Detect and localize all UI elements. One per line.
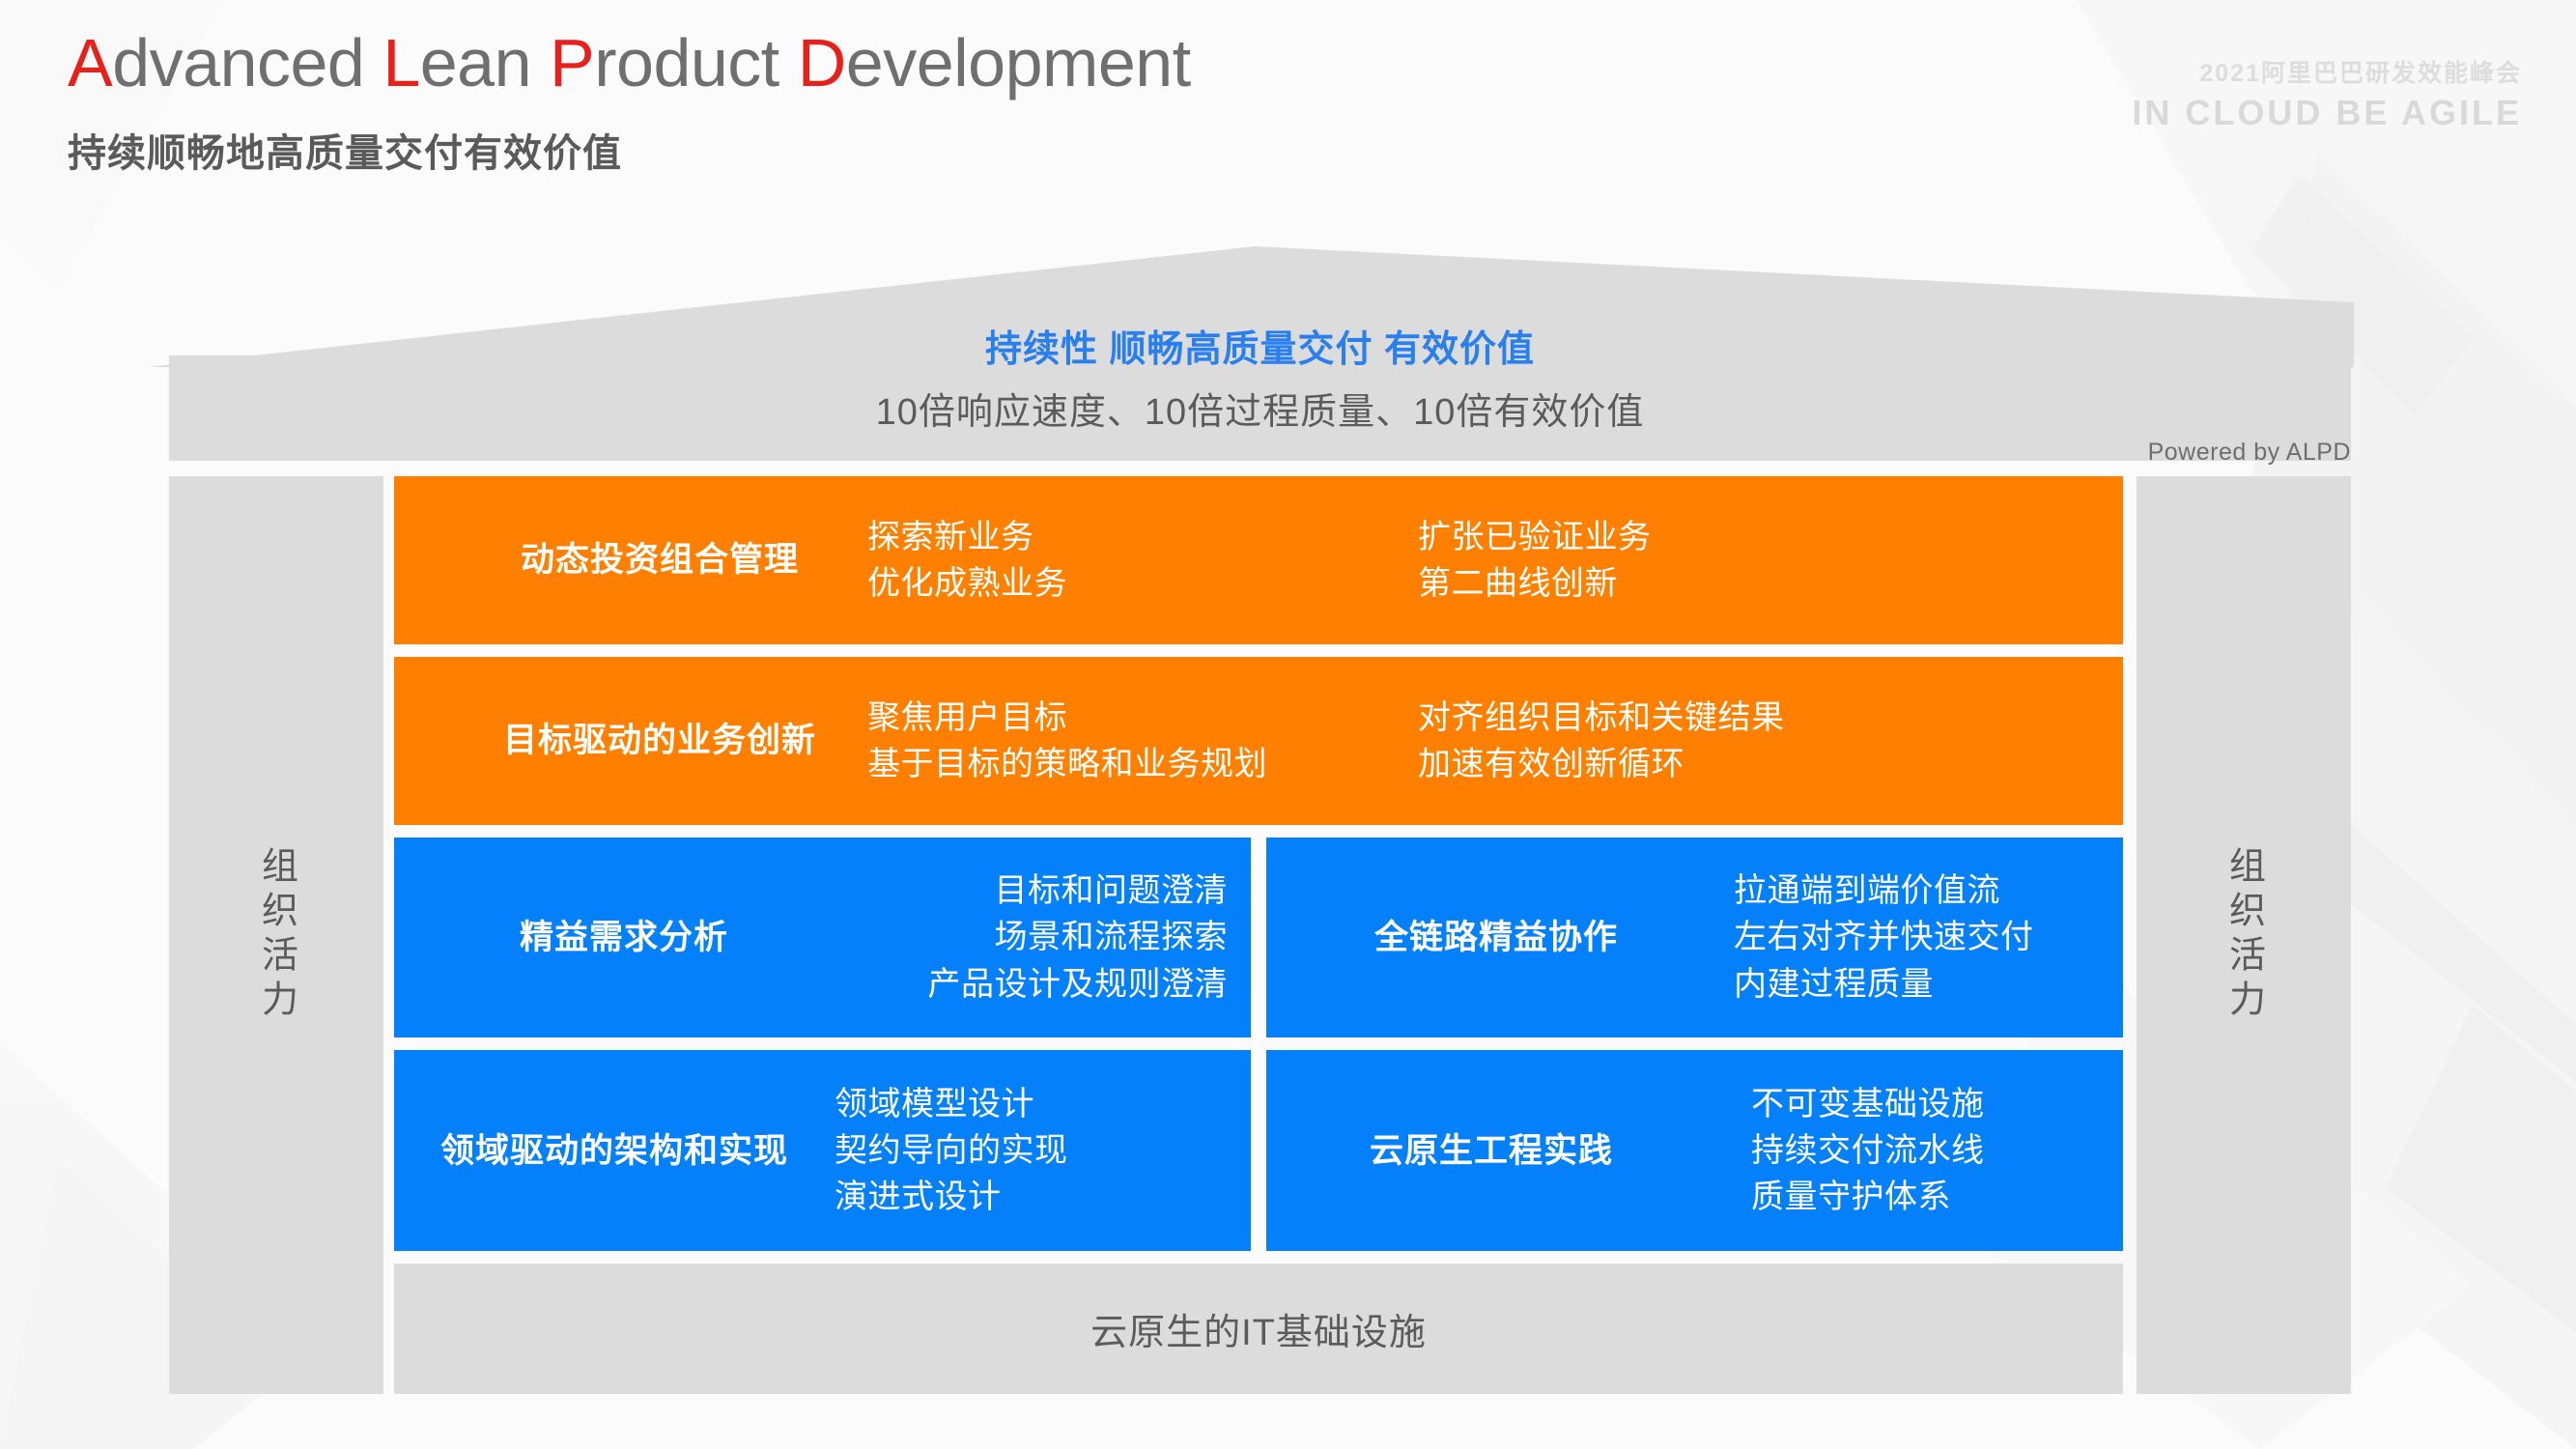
card-title: 精益需求分析: [421, 914, 827, 961]
roof-text-block: 持续性 顺畅高质量交付 有效价值 10倍响应速度、10倍过程质量、10倍有效价值…: [169, 319, 2351, 435]
card-lean-requirements-analysis: 精益需求分析 目标和问题澄清 场景和流程探索 产品设计及规则澄清: [394, 838, 1251, 1038]
card-title: 动态投资组合管理: [452, 536, 867, 583]
page-title: Advanced Lean Product Development: [68, 29, 1191, 97]
title-accent-letter: D: [798, 25, 846, 100]
list-item: 聚焦用户目标: [867, 695, 1418, 741]
list-item: 对齐组织目标和关键结果: [1418, 695, 2123, 741]
card-title: 目标驱动的业务创新: [452, 717, 867, 764]
conference-logo-cn: 2021阿里巴巴研发效能峰会: [2132, 54, 2522, 89]
page-subtitle: 持续顺畅地高质量交付有效价值: [68, 122, 1191, 178]
table-row: 领域驱动的架构和实现 领域模型设计 契约导向的实现 演进式设计 云原生工程实践 …: [394, 1050, 2123, 1251]
title-accent-letter: L: [382, 25, 419, 100]
list-item: 持续交付流水线: [1751, 1127, 2100, 1174]
card-title: 云原生工程实践: [1293, 1127, 1689, 1175]
card-goal-driven-innovation: 目标驱动的业务创新 聚焦用户目标 基于目标的策略和业务规划 对齐组织目标和关键结…: [394, 657, 2123, 825]
list-item: 左右对齐并快速交付: [1734, 914, 2100, 960]
pillar-right-label: 组织活力: [2218, 846, 2271, 1024]
list-item: 不可变基础设施: [1751, 1081, 2100, 1127]
table-row: 目标驱动的业务创新 聚焦用户目标 基于目标的策略和业务规划 对齐组织目标和关键结…: [394, 657, 2123, 825]
powered-by-label: Powered by ALPD: [2148, 439, 2351, 467]
pillar-left-label: 组织活力: [250, 846, 303, 1024]
card-title: 全链路精益协作: [1293, 914, 1699, 961]
foundation-bar: 云原生的IT基础设施: [394, 1264, 2123, 1394]
card-bullets-right: 扩张已验证业务 第二曲线创新: [1418, 514, 2123, 608]
conference-logo: 2021阿里巴巴研发效能峰会 IN CLOUD BE AGILE: [2132, 54, 2522, 133]
list-item: 加速有效创新循环: [1418, 741, 2123, 787]
list-item: 契约导向的实现: [835, 1127, 1228, 1174]
list-item: 内建过程质量: [1734, 961, 2100, 1008]
card-domain-driven-architecture: 领域驱动的架构和实现 领域模型设计 契约导向的实现 演进式设计: [394, 1050, 1251, 1251]
title-segment: dvanced: [112, 25, 382, 100]
table-row: 精益需求分析 目标和问题澄清 场景和流程探索 产品设计及规则澄清 全链路精益协作…: [394, 838, 2123, 1038]
card-bullets-left: 探索新业务 优化成熟业务: [867, 514, 1418, 608]
list-item: 场景和流程探索: [836, 914, 1228, 960]
card-cloud-native-engineering: 云原生工程实践 不可变基础设施 持续交付流水线 质量守护体系: [1266, 1050, 2123, 1251]
card-bullets: 不可变基础设施 持续交付流水线 质量守护体系: [1689, 1081, 2100, 1221]
list-item: 第二曲线创新: [1418, 560, 2123, 607]
card-bullets: 拉通端到端价值流 左右对齐并快速交付 内建过程质量: [1699, 867, 2100, 1008]
pillar-left: 组织活力: [169, 476, 383, 1394]
pillar-right: 组织活力: [2137, 476, 2351, 1394]
card-bullets: 目标和问题澄清 场景和流程探索 产品设计及规则澄清: [827, 867, 1228, 1008]
title-segment: evelopment: [846, 25, 1191, 100]
foundation-label: 云原生的IT基础设施: [1090, 1302, 1427, 1355]
table-row: 动态投资组合管理 探索新业务 优化成熟业务 扩张已验证业务 第二曲线创新: [394, 476, 2123, 644]
list-item: 拉通端到端价值流: [1734, 867, 2100, 914]
card-end-to-end-lean-collaboration: 全链路精益协作 拉通端到端价值流 左右对齐并快速交付 内建过程质量: [1266, 838, 2123, 1038]
title-segment: roduct: [594, 25, 798, 100]
card-bullets: 领域模型设计 契约导向的实现 演进式设计: [807, 1081, 1228, 1221]
title-accent-letter: A: [68, 25, 112, 100]
list-item: 探索新业务: [867, 514, 1418, 560]
list-item: 产品设计及规则澄清: [836, 961, 1228, 1008]
card-dynamic-portfolio: 动态投资组合管理 探索新业务 优化成熟业务 扩张已验证业务 第二曲线创新: [394, 476, 2123, 644]
list-item: 领域模型设计: [835, 1081, 1228, 1127]
title-segment: ean: [420, 25, 550, 100]
conference-logo-en: IN CLOUD BE AGILE: [2132, 93, 2522, 133]
card-title: 领域驱动的架构和实现: [421, 1127, 807, 1175]
list-item: 扩张已验证业务: [1418, 514, 2123, 560]
roof-subline: 10倍响应速度、10倍过程质量、10倍有效价值: [169, 382, 2351, 435]
card-bullets-right: 对齐组织目标和关键结果 加速有效创新循环: [1418, 695, 2123, 788]
roof-headline: 持续性 顺畅高质量交付 有效价值: [169, 319, 2351, 372]
list-item: 基于目标的策略和业务规划: [867, 741, 1418, 787]
slide-header: Advanced Lean Product Development 持续顺畅地高…: [68, 29, 1191, 178]
list-item: 质量守护体系: [1751, 1174, 2100, 1220]
list-item: 优化成熟业务: [867, 560, 1418, 607]
list-item: 目标和问题澄清: [836, 867, 1228, 914]
house-content: 动态投资组合管理 探索新业务 优化成熟业务 扩张已验证业务 第二曲线创新 目标驱…: [394, 476, 2123, 1394]
card-bullets-left: 聚焦用户目标 基于目标的策略和业务规划: [867, 695, 1418, 788]
slide-canvas: Advanced Lean Product Development 持续顺畅地高…: [0, 0, 2576, 1449]
list-item: 演进式设计: [835, 1174, 1228, 1220]
title-accent-letter: P: [550, 25, 594, 100]
